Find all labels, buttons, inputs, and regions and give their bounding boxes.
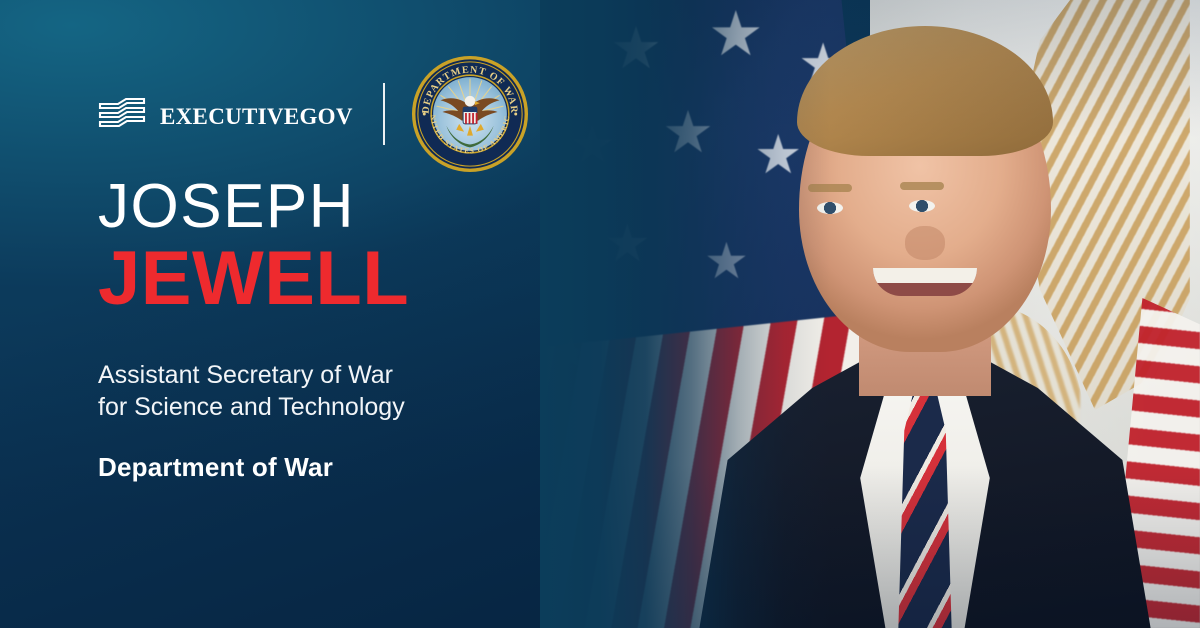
executivegov-logo[interactable]: ExecutiveGov [98,96,353,133]
flag-star-icon: ★ [604,218,651,270]
teeth [873,268,977,283]
flag-star-icon: ★ [570,120,615,170]
eyebrow-left [808,184,852,192]
nose [905,226,945,260]
portrait-photo: ★ ★ ★ ★ ★ ★ ★ ★ ★ [540,0,1200,628]
job-title: Assistant Secretary of War for Science a… [98,360,478,424]
eye-left [817,202,843,214]
portrait-subject [690,0,1160,628]
eye-right [909,200,935,212]
eyebrow-right [900,182,944,190]
vertical-divider [383,83,385,145]
banner-header: ExecutiveGov [98,55,529,173]
profile-text-block: JOSEPH JEWELL Assistant Secretary of War… [98,176,568,483]
executive-profile-banner: ★ ★ ★ ★ ★ ★ ★ ★ ★ [0,0,1200,628]
executivegov-wordmark: ExecutiveGov [160,96,353,133]
hair [797,26,1053,156]
job-title-line-2: for Science and Technology [98,392,478,424]
job-title-line-1: Assistant Secretary of War [98,360,478,392]
smiling-mouth [873,268,977,296]
organization-name: Department of War [98,452,568,483]
first-name: JOSEPH [98,176,568,238]
department-of-war-seal-icon: DEPARTMENT OF WAR UNITED STATES OF AMERI… [411,55,529,173]
wave-lines-icon [98,97,146,131]
flag-star-icon: ★ [610,20,662,78]
last-name: JEWELL [98,242,568,316]
